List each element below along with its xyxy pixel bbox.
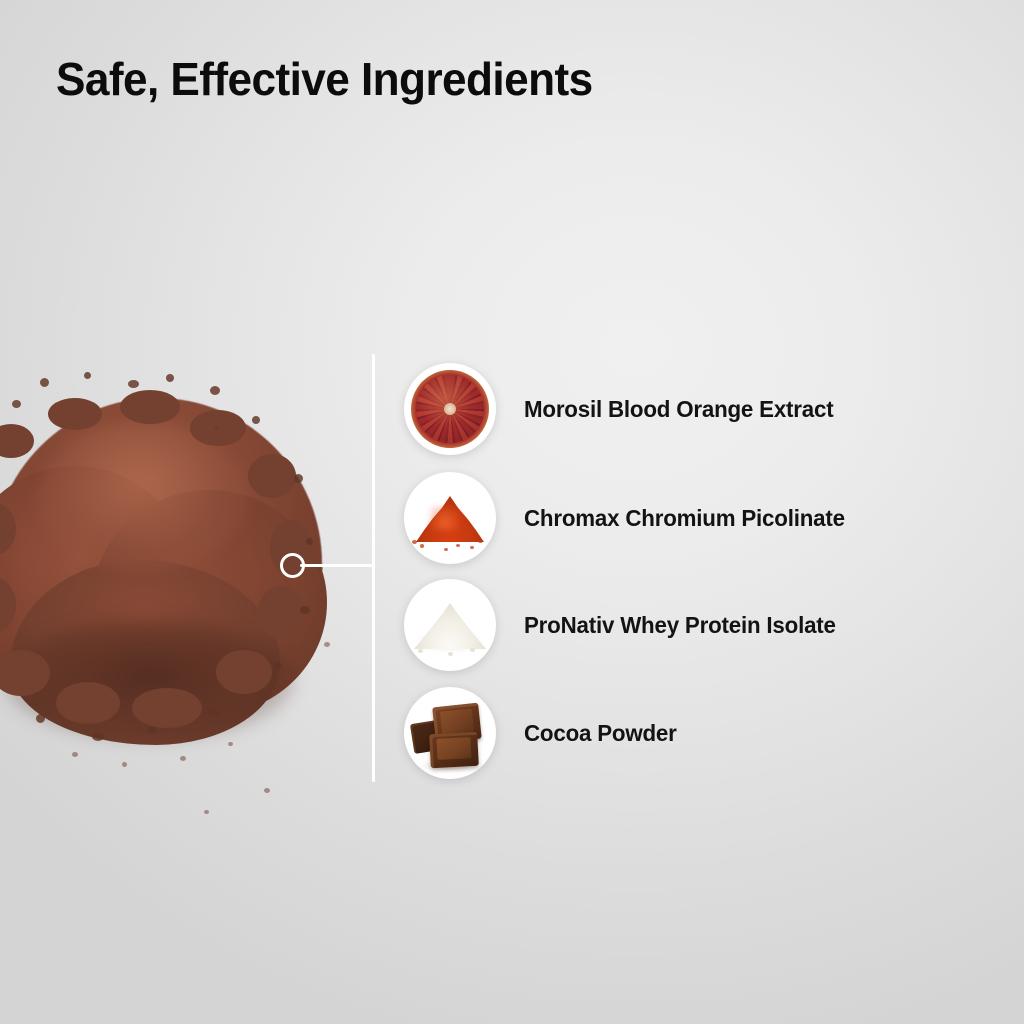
- pile-dust: [180, 756, 186, 761]
- pile-crumb: [48, 398, 102, 430]
- pile-dust: [122, 762, 127, 767]
- pile-dust: [214, 426, 219, 431]
- blood-orange-slice-icon: [404, 363, 496, 455]
- pile-speck: [12, 400, 21, 408]
- red-powder-speck: [456, 544, 460, 547]
- ingredient-label: Chromax Chromium Picolinate: [524, 505, 845, 532]
- chocolate-square-top-face: [440, 708, 474, 734]
- red-powder-highlight: [430, 506, 460, 530]
- white-powder-speck: [418, 649, 423, 653]
- ingredient-label: Cocoa Powder: [524, 720, 677, 747]
- red-powder-speck: [412, 540, 417, 544]
- white-powder-speck: [470, 648, 475, 652]
- red-powder-mound-icon: [404, 472, 496, 564]
- red-powder-speck: [478, 539, 483, 543]
- page-title: Safe, Effective Ingredients: [56, 52, 593, 106]
- pile-dust: [228, 742, 233, 746]
- ingredient-row-chromax[interactable]: Chromax Chromium Picolinate: [404, 468, 984, 568]
- pile-crumb: [248, 454, 296, 498]
- callout-leader-line: [300, 564, 374, 567]
- pile-speck: [92, 732, 104, 741]
- pile-dust: [264, 788, 270, 793]
- pile-crumb: [120, 390, 180, 424]
- pile-dust: [324, 642, 330, 647]
- ingredient-label: Morosil Blood Orange Extract: [524, 396, 833, 423]
- pile-speck: [166, 374, 174, 382]
- pile-speck: [84, 372, 91, 379]
- pile-speck: [40, 378, 49, 387]
- pile-crumb: [56, 682, 120, 724]
- ingredients-infographic: Safe, Effective Ingredients: [0, 0, 1024, 1024]
- red-powder-speck: [420, 544, 424, 548]
- pile-crumb: [216, 650, 272, 694]
- ingredient-row-pronativ[interactable]: ProNativ Whey Protein Isolate: [404, 575, 984, 675]
- chocolate-squares-icon: [404, 687, 496, 779]
- pile-speck: [306, 538, 313, 545]
- ingredient-label: ProNativ Whey Protein Isolate: [524, 612, 836, 639]
- ingredient-row-morosil[interactable]: Morosil Blood Orange Extract: [404, 359, 984, 459]
- pile-speck: [210, 386, 220, 395]
- pile-speck: [208, 708, 219, 717]
- chocolate-square-front-face: [436, 737, 471, 760]
- red-powder-speck: [444, 548, 448, 551]
- orange-core: [444, 403, 456, 415]
- pile-crumb: [0, 424, 34, 458]
- pile-dust: [204, 810, 209, 814]
- pile-crumb: [258, 586, 304, 638]
- pile-speck: [300, 606, 310, 614]
- pile-speck: [36, 714, 45, 723]
- ingredient-row-cocoa[interactable]: Cocoa Powder: [404, 683, 984, 783]
- cocoa-powder-pile: [0, 370, 382, 800]
- white-powder-mound: [414, 603, 486, 649]
- pile-speck: [148, 726, 157, 734]
- pile-crumb: [132, 688, 202, 728]
- white-powder-speck: [448, 652, 453, 656]
- pile-dust: [72, 752, 78, 757]
- pile-speck: [252, 416, 260, 424]
- pile-speck: [274, 662, 282, 670]
- ingredient-rail-line: [372, 354, 375, 782]
- red-powder-speck: [470, 546, 474, 549]
- white-powder-mound-icon: [404, 579, 496, 671]
- pile-speck: [294, 474, 303, 483]
- pile-speck: [128, 380, 139, 388]
